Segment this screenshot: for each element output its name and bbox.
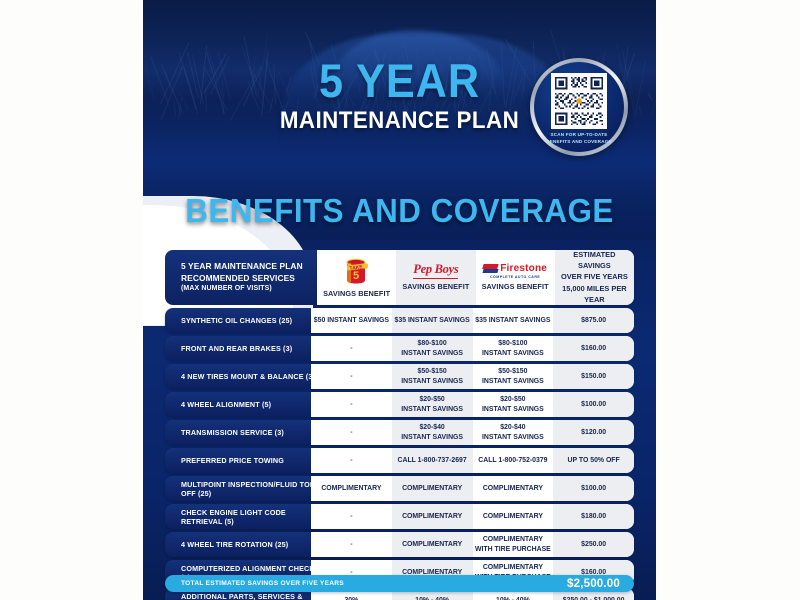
qr-caption: SCAN FOR UP-TO-DATE BENEFITS AND COVERAG… xyxy=(546,132,612,144)
cell-firestone: COMPLIMENTARY WITH TIRE PURCHASE xyxy=(473,532,554,557)
estimated-savings-header-text: ESTIMATED SAVINGS OVER FIVE YEARS 15,000… xyxy=(557,249,632,305)
cell-pepboys: $35 INSTANT SAVINGS xyxy=(392,308,473,333)
pepboys-logo-icon: Pep Boys xyxy=(413,263,458,279)
firestone-logo-row: Firestone xyxy=(483,263,547,274)
qr-caption-line2: BENEFITS AND COVERAGE xyxy=(546,139,612,145)
row-values: -COMPLIMENTARYCOMPLIMENTARY$180.00 xyxy=(311,504,634,529)
firestone-logo-icon: Firestone COMPLETE AUTO CARE xyxy=(483,263,547,279)
cell-pepboys: $80-$100 INSTANT SAVINGS xyxy=(392,336,473,361)
row-service-label: TRANSMISSION SERVICE (3) xyxy=(165,420,317,445)
firestone-benefit-label: SAVINGS BENEFIT xyxy=(482,282,549,291)
cell-take5: - xyxy=(311,392,392,417)
svg-text:5: 5 xyxy=(353,270,359,282)
firestone-tagline: COMPLETE AUTO CARE xyxy=(490,275,540,279)
column-header-firestone: Firestone COMPLETE AUTO CARE SAVINGS BEN… xyxy=(476,250,555,305)
cell-estimated: $100.00 xyxy=(553,476,634,501)
take5-benefit-label: SAVINGS BENEFIT xyxy=(323,289,390,298)
total-savings-label: TOTAL ESTIMATED SAVINGS OVER FIVE YEARS xyxy=(181,580,344,587)
estimated-line1: ESTIMATED SAVINGS xyxy=(557,249,632,272)
take5-logo-icon: TAKE 5 xyxy=(340,256,374,286)
cell-estimated: $120.00 xyxy=(553,420,634,445)
cell-take5: - xyxy=(311,336,392,361)
cell-pepboys: COMPLIMENTARY xyxy=(392,532,473,557)
row-values: -$80-$100 INSTANT SAVINGS$80-$100 INSTAN… xyxy=(311,336,634,361)
cell-take5: - xyxy=(311,448,392,473)
row-values: COMPLIMENTARYCOMPLIMENTARYCOMPLIMENTARY$… xyxy=(311,476,634,501)
qr-badge-inner: SCAN FOR UP-TO-DATE BENEFITS AND COVERAG… xyxy=(534,62,624,152)
cell-firestone: CALL 1-800-752-0379 xyxy=(473,448,554,473)
firestone-mark-icon xyxy=(483,264,498,273)
cell-take5: - xyxy=(311,364,392,389)
cell-take5: COMPLIMENTARY xyxy=(311,476,392,501)
header-label-line3: (MAX NUMBER OF VISITS) xyxy=(181,284,303,294)
cell-firestone: $50-$150 INSTANT SAVINGS xyxy=(473,364,554,389)
cell-firestone: $80-$100 INSTANT SAVINGS xyxy=(473,336,554,361)
cell-take5: - xyxy=(311,504,392,529)
row-service-label: 4 NEW TIRES MOUNT & BALANCE (3) xyxy=(165,364,317,389)
table-header-label-text: 5 YEAR MAINTENANCE PLAN RECOMMENDED SERV… xyxy=(181,261,303,295)
cell-estimated: $100.00 xyxy=(553,392,634,417)
cell-firestone: COMPLIMENTARY xyxy=(473,504,554,529)
table-row: 4 WHEEL ALIGNMENT (5)-$20-$50 INSTANT SA… xyxy=(165,392,634,417)
cell-pepboys: $50-$150 INSTANT SAVINGS xyxy=(392,364,473,389)
cell-take5: - xyxy=(311,420,392,445)
cell-take5: $50 INSTANT SAVINGS xyxy=(311,308,392,333)
cell-firestone: $35 INSTANT SAVINGS xyxy=(473,308,554,333)
table-row: 4 WHEEL TIRE ROTATION (25)-COMPLIMENTARY… xyxy=(165,532,634,557)
qr-caption-line1: SCAN FOR UP-TO-DATE xyxy=(546,132,612,138)
row-values: -$20-$50 INSTANT SAVINGS$20-$50 INSTANT … xyxy=(311,392,634,417)
cell-pepboys: COMPLIMENTARY xyxy=(392,504,473,529)
table-header-label-cell: 5 YEAR MAINTENANCE PLAN RECOMMENDED SERV… xyxy=(165,250,317,305)
row-service-label: PREFERRED PRICE TOWING xyxy=(165,448,317,473)
header-label-line1: 5 YEAR MAINTENANCE PLAN xyxy=(181,261,303,273)
cell-pepboys: $20-$40 INSTANT SAVINGS xyxy=(392,420,473,445)
qr-badge[interactable]: SCAN FOR UP-TO-DATE BENEFITS AND COVERAG… xyxy=(530,58,628,156)
cell-take5: - xyxy=(311,532,392,557)
poster-panel: 5 YEAR MAINTENANCE PLAN BENEFITS AND COV… xyxy=(143,0,656,600)
benefits-table: 5 YEAR MAINTENANCE PLAN RECOMMENDED SERV… xyxy=(165,250,634,600)
cell-pepboys: $20-$50 INSTANT SAVINGS xyxy=(392,392,473,417)
section-headline: BENEFITS AND COVERAGE xyxy=(156,192,643,230)
header-label-line2: RECOMMENDED SERVICES xyxy=(181,273,303,285)
row-values: -CALL 1-800-737-2697CALL 1-800-752-0379U… xyxy=(311,448,634,473)
cell-estimated: $875.00 xyxy=(553,308,634,333)
row-values: -COMPLIMENTARYCOMPLIMENTARY WITH TIRE PU… xyxy=(311,532,634,557)
qr-code-icon[interactable] xyxy=(551,73,607,129)
row-values: -$50-$150 INSTANT SAVINGS$50-$150 INSTAN… xyxy=(311,364,634,389)
table-row: FRONT AND REAR BRAKES (3)-$80-$100 INSTA… xyxy=(165,336,634,361)
column-header-take5: TAKE 5 SAVINGS BENEFIT xyxy=(317,250,396,305)
table-row: MULTIPOINT INSPECTION/FLUID TOP OFF (25)… xyxy=(165,476,634,501)
page-root: 5 YEAR MAINTENANCE PLAN BENEFITS AND COV… xyxy=(0,0,800,600)
table-row: SYNTHETIC OIL CHANGES (25)$50 INSTANT SA… xyxy=(165,308,634,333)
row-service-label: FRONT AND REAR BRAKES (3) xyxy=(165,336,317,361)
estimated-line2: OVER FIVE YEARS xyxy=(557,271,632,282)
pepboys-benefit-label: SAVINGS BENEFIT xyxy=(402,282,469,291)
estimated-line3: 15,000 MILES PER YEAR xyxy=(557,283,632,306)
row-service-label: SYNTHETIC OIL CHANGES (25) xyxy=(165,308,317,333)
row-service-label: 4 WHEEL TIRE ROTATION (25) xyxy=(165,532,317,557)
row-values: -$20-$40 INSTANT SAVINGS$20-$40 INSTANT … xyxy=(311,420,634,445)
cell-estimated: UP TO 50% OFF xyxy=(553,448,634,473)
cell-estimated: $180.00 xyxy=(553,504,634,529)
row-service-label: MULTIPOINT INSPECTION/FLUID TOP OFF (25) xyxy=(165,476,317,501)
cell-estimated: $160.00 xyxy=(553,336,634,361)
firestone-wordmark: Firestone xyxy=(500,263,547,274)
column-header-pepboys: Pep Boys SAVINGS BENEFIT xyxy=(396,250,475,305)
cell-pepboys: COMPLIMENTARY xyxy=(392,476,473,501)
table-row: TRANSMISSION SERVICE (3)-$20-$40 INSTANT… xyxy=(165,420,634,445)
cell-firestone: $20-$40 INSTANT SAVINGS xyxy=(473,420,554,445)
total-savings-value: $2,500.00 xyxy=(567,578,620,590)
cell-firestone: $20-$50 INSTANT SAVINGS xyxy=(473,392,554,417)
cell-estimated: $150.00 xyxy=(553,364,634,389)
row-values: $50 INSTANT SAVINGS$35 INSTANT SAVINGS$3… xyxy=(311,308,634,333)
row-service-label: 4 WHEEL ALIGNMENT (5) xyxy=(165,392,317,417)
cell-pepboys: CALL 1-800-737-2697 xyxy=(392,448,473,473)
table-row: PREFERRED PRICE TOWING-CALL 1-800-737-26… xyxy=(165,448,634,473)
total-savings-bar: TOTAL ESTIMATED SAVINGS OVER FIVE YEARS … xyxy=(165,575,634,592)
table-header-brand-cells: TAKE 5 SAVINGS BENEFIT Pep Boys SAVINGS … xyxy=(317,250,634,305)
cell-estimated: $250.00 xyxy=(553,532,634,557)
table-body: SYNTHETIC OIL CHANGES (25)$50 INSTANT SA… xyxy=(165,308,634,600)
row-service-label: CHECK ENGINE LIGHT CODE RETRIEVAL (5) xyxy=(165,504,317,529)
table-row: CHECK ENGINE LIGHT CODE RETRIEVAL (5)-CO… xyxy=(165,504,634,529)
column-header-estimated-savings: ESTIMATED SAVINGS OVER FIVE YEARS 15,000… xyxy=(555,250,634,305)
table-row: 4 NEW TIRES MOUNT & BALANCE (3)-$50-$150… xyxy=(165,364,634,389)
table-header-row: 5 YEAR MAINTENANCE PLAN RECOMMENDED SERV… xyxy=(165,250,634,305)
cell-firestone: COMPLIMENTARY xyxy=(473,476,554,501)
